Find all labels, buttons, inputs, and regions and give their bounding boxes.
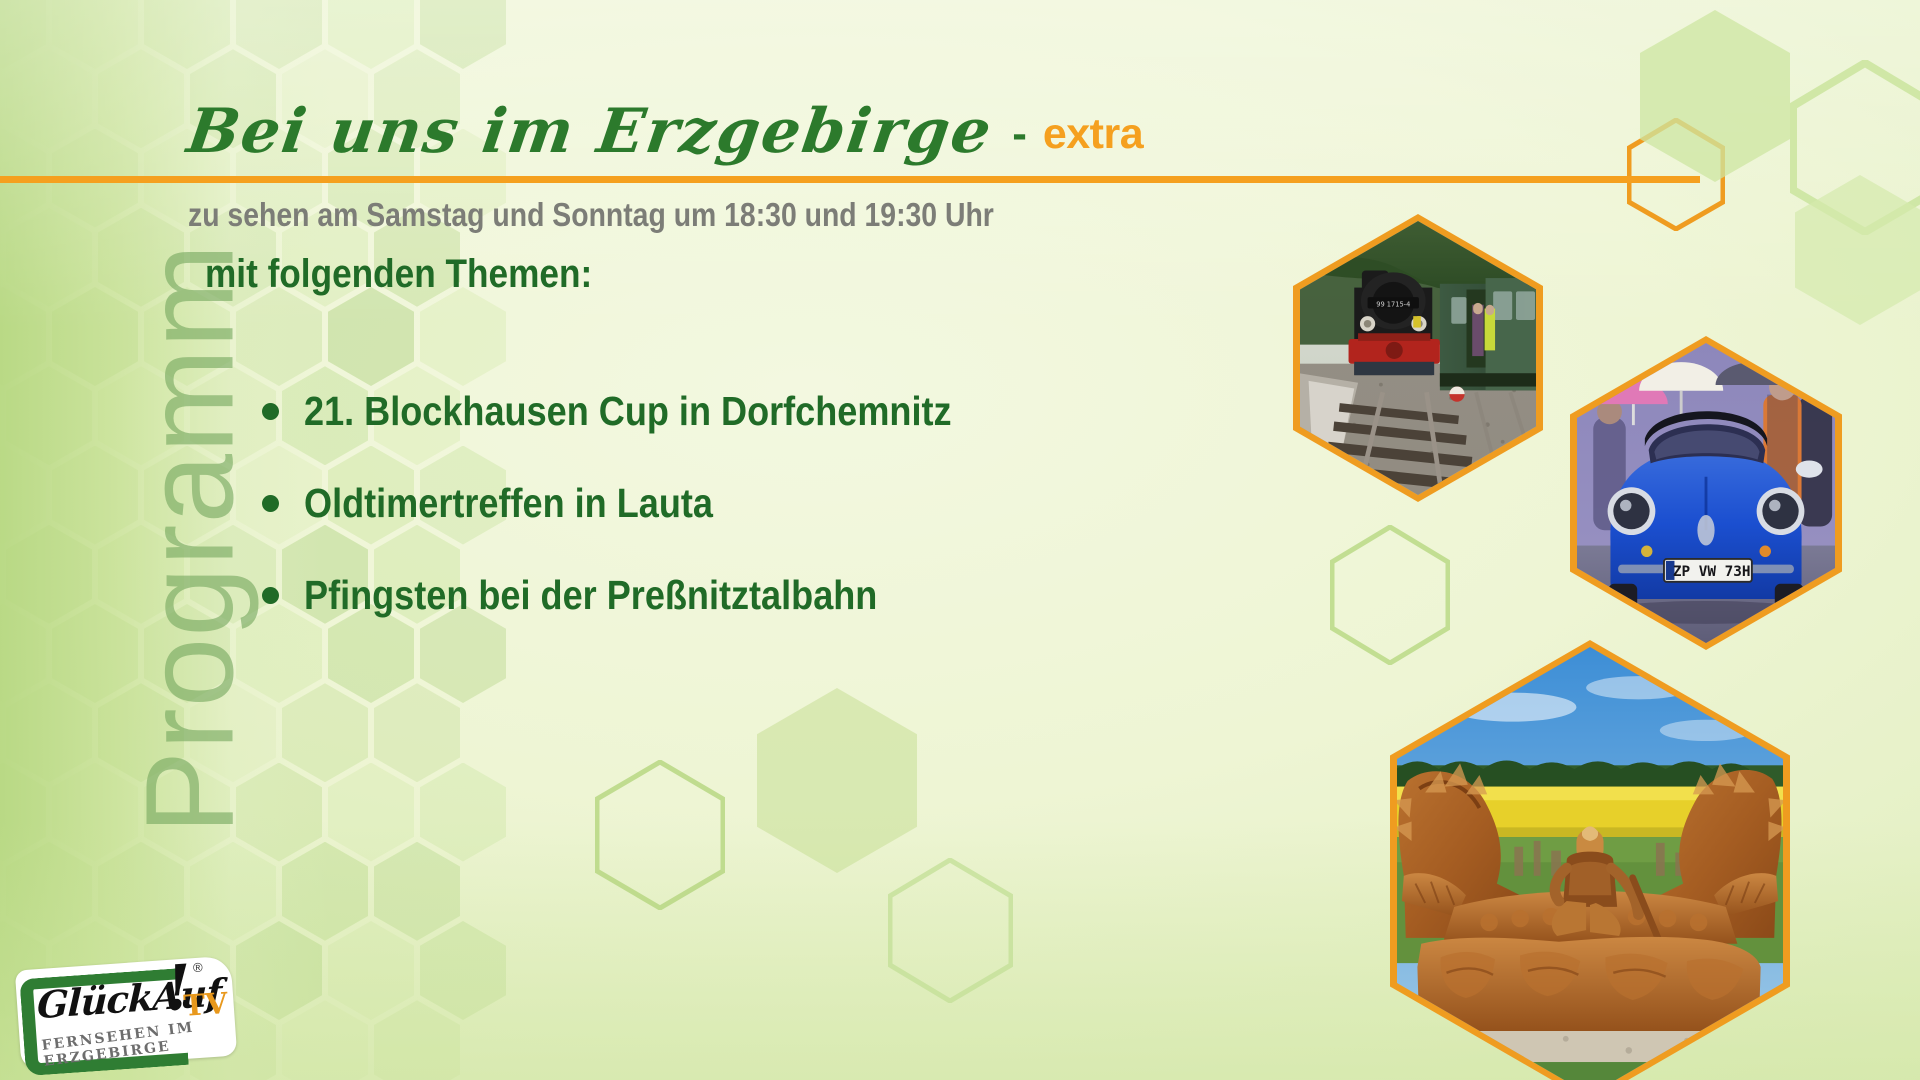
broadcast-times-subtitle: zu sehen am Samstag und Sonntag um 18:30… (188, 196, 994, 234)
orange-divider-rule (0, 176, 1700, 183)
wood-sculpture-photo (1390, 640, 1790, 1080)
hex-photo-image: ZP VW 73H (1577, 343, 1835, 643)
page-title-extra: extra (1043, 110, 1143, 159)
decorative-hexagon-outline-2 (888, 858, 1013, 1003)
decorative-hexagon-outline-1 (595, 760, 725, 910)
bullet-dot-icon (262, 403, 279, 420)
glueckauf-tv-logo[interactable]: GlückAuf ! ® TV FERNSEHEN IM ERZGEBIRGE (15, 956, 237, 1071)
slide-canvas: Programm Bei uns im Erzgebirge - extra z… (0, 0, 1920, 1080)
svg-text:ZP VW 73H: ZP VW 73H (1673, 564, 1751, 580)
bullet-dot-icon (262, 495, 279, 512)
list-item: 21. Blockhausen Cup in Dorfchemnitz (262, 388, 1040, 435)
svg-text:99 1715-4: 99 1715-4 (1376, 301, 1410, 309)
topics-list: 21. Blockhausen Cup in Dorfchemnitz Oldt… (262, 388, 1040, 664)
logo-registered-icon: ® (192, 960, 203, 976)
hex-photo-image (1397, 647, 1783, 1080)
honeycomb-cell (374, 683, 460, 782)
topics-heading: mit folgenden Themen: (205, 252, 592, 297)
vw-beetle-photo: ZP VW 73H (1570, 336, 1842, 650)
list-item: Pfingsten bei der Preßnitztalbahn (262, 572, 1040, 619)
list-item: Oldtimertreffen in Lauta (262, 480, 1040, 527)
list-item-label: 21. Blockhausen Cup in Dorfchemnitz (304, 388, 952, 435)
page-title-dash: - (992, 109, 1043, 159)
steam-train-photo: 99 1715-4 (1293, 214, 1543, 502)
page-title: Bei uns im Erzgebirge - extra (188, 101, 1143, 163)
page-title-script: Bei uns im Erzgebirge (184, 101, 997, 162)
bullet-dot-icon (262, 587, 279, 604)
list-item-label: Pfingsten bei der Preßnitztalbahn (304, 572, 877, 619)
list-item-label: Oldtimertreffen in Lauta (304, 480, 713, 527)
